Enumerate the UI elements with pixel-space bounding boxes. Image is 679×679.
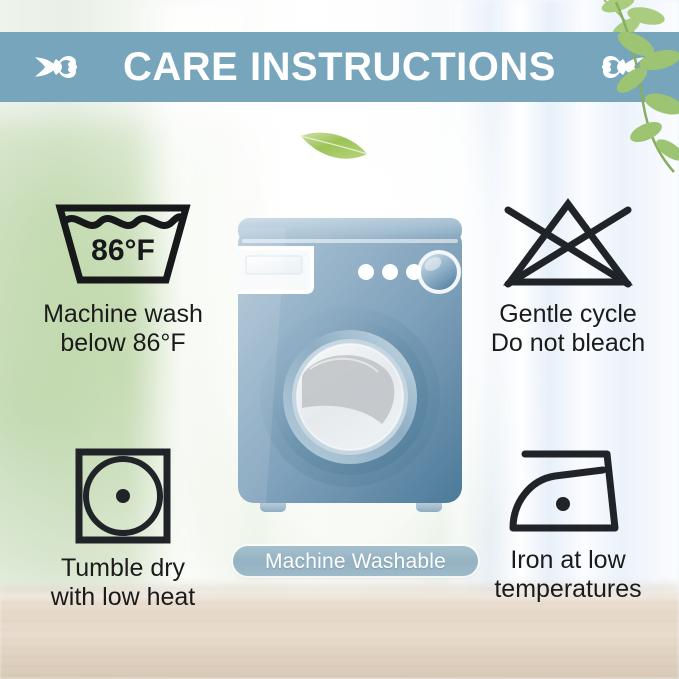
- wash-tub-icon: 86°F: [48, 196, 198, 292]
- fleur-de-lis-icon: [26, 45, 90, 89]
- machine-program-knob: [417, 250, 461, 294]
- machine-door: [260, 307, 440, 487]
- status-badge: Machine Washable: [233, 546, 478, 576]
- care-symbol-tumble-dry: Tumble dry with low heat: [18, 446, 228, 611]
- care-symbol-machine-wash: 86°F Machine wash below 86°F: [18, 196, 228, 357]
- care-instructions-infographic: CARE INSTRUCTIONS: [0, 0, 679, 679]
- machine-indicator-lights: [358, 264, 422, 280]
- tumble-dry-low-icon: [73, 446, 173, 546]
- header-banner: CARE INSTRUCTIONS: [0, 32, 679, 102]
- care-symbol-caption: Iron at low temperatures: [494, 546, 641, 603]
- wash-tub-temperature-label: 86°F: [91, 234, 155, 267]
- triangle-crossed-out-icon: [492, 196, 644, 292]
- page-title: CARE INSTRUCTIONS: [123, 47, 556, 87]
- fleur-de-lis-icon: [589, 45, 653, 89]
- status-badge-label: Machine Washable: [265, 551, 446, 572]
- care-symbol-iron-low: Iron at low temperatures: [462, 446, 674, 603]
- floating-leaf-icon: [295, 120, 375, 170]
- iron-one-dot-icon: [503, 446, 633, 538]
- care-symbol-caption: Gentle cycle Do not bleach: [491, 300, 645, 357]
- washing-machine-illustration: [232, 212, 468, 537]
- care-symbol-do-not-bleach: Gentle cycle Do not bleach: [462, 196, 674, 357]
- care-symbol-caption: Tumble dry with low heat: [51, 554, 196, 611]
- care-symbol-caption: Machine wash below 86°F: [43, 300, 203, 357]
